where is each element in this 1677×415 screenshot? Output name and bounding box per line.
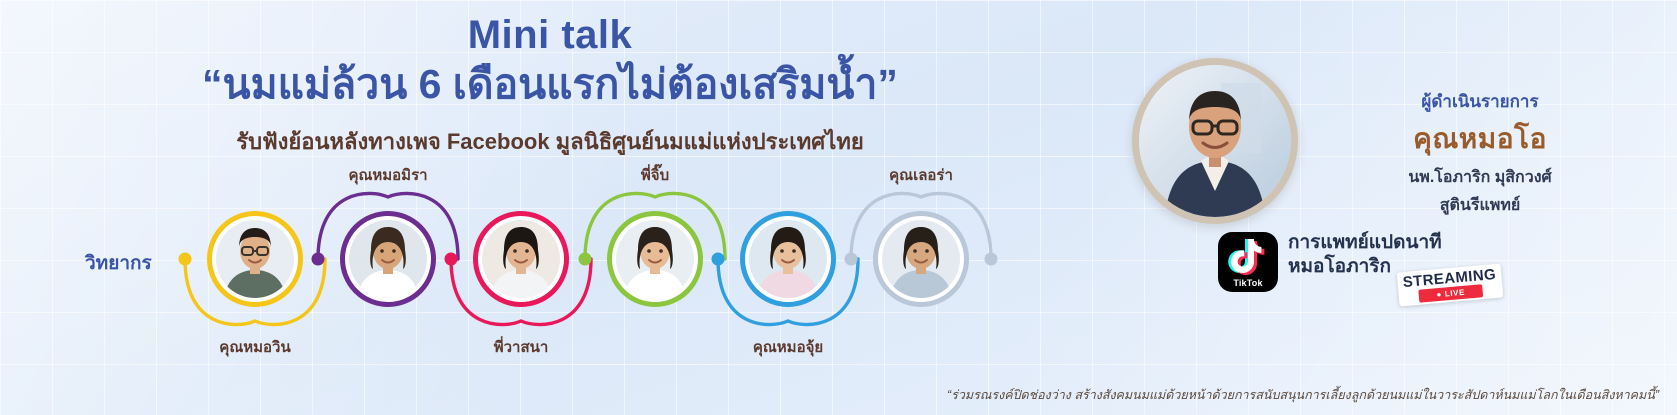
title-quote: “นมแม่ล้วน 6 เดือนแรกไม่ต้องเสริมน้ำ” bbox=[0, 60, 1100, 108]
speaker-name-label: คุณเลอร่า bbox=[889, 163, 953, 187]
speaker-timeline: วิทยากร คุณหมอวิน bbox=[0, 178, 1080, 353]
speaker-avatar[interactable] bbox=[340, 211, 436, 307]
speaker-portrait bbox=[482, 220, 560, 298]
timeline-node-dot bbox=[312, 253, 325, 266]
promo-banner: Mini talk “นมแม่ล้วน 6 เดือนแรกไม่ต้องเส… bbox=[0, 0, 1677, 415]
timeline-node-dot bbox=[445, 253, 458, 266]
tiktok-label: TikTok bbox=[1218, 278, 1278, 288]
host-avatar bbox=[1132, 58, 1298, 224]
speaker-name-label: คุณหมอจุ้ย bbox=[753, 335, 823, 359]
title-main: Mini talk bbox=[0, 14, 1100, 56]
speaker-name-label: คุณหมอมิรา bbox=[348, 163, 427, 187]
speaker-portrait bbox=[349, 220, 427, 298]
host-specialty: สูตินรีแพทย์ bbox=[1300, 195, 1660, 217]
speaker-portrait bbox=[216, 220, 294, 298]
speaker-avatar[interactable] bbox=[740, 211, 836, 307]
host-info: ผู้ดำเนินรายการ คุณหมอโอ นพ.โอภาริก มุสิ… bbox=[1300, 88, 1660, 216]
timeline-node-dot bbox=[845, 253, 858, 266]
timeline-node-dot bbox=[579, 253, 592, 266]
speaker-avatar[interactable] bbox=[473, 211, 569, 307]
speaker-avatar[interactable] bbox=[207, 211, 303, 307]
timeline-node-dot bbox=[179, 253, 192, 266]
timeline-node-dot bbox=[985, 253, 998, 266]
host-nickname: คุณหมอโอ bbox=[1300, 117, 1660, 161]
speaker-portrait bbox=[882, 220, 960, 298]
channel-line-1: การแพทย์แปดนาที bbox=[1288, 231, 1608, 255]
title-subtitle: รับฟังย้อนหลังทางเพจ Facebook มูลนิธิศูน… bbox=[0, 124, 1100, 159]
footer-note: “ร่วมรณรงค์ปิดช่องว่าง สร้างสังคมนมแม่ด้… bbox=[947, 385, 1659, 405]
host-fullname: นพ.โอภาริก มุสิกวงศ์ bbox=[1300, 167, 1660, 189]
host-role: ผู้ดำเนินรายการ bbox=[1300, 88, 1660, 115]
timeline-node-dot bbox=[712, 253, 725, 266]
speaker-avatar[interactable] bbox=[873, 211, 969, 307]
speaker-name-label: พี่วาสนา bbox=[494, 335, 549, 359]
speaker-portrait bbox=[616, 220, 694, 298]
speaker-portrait bbox=[749, 220, 827, 298]
speaker-name-label: พี่จิ๊บ bbox=[641, 163, 669, 187]
speaker-avatar[interactable] bbox=[607, 211, 703, 307]
speaker-name-label: คุณหมอวิน bbox=[219, 335, 290, 359]
title-block: Mini talk “นมแม่ล้วน 6 เดือนแรกไม่ต้องเส… bbox=[0, 14, 1100, 159]
tiktok-icon[interactable]: TikTok bbox=[1218, 232, 1278, 292]
